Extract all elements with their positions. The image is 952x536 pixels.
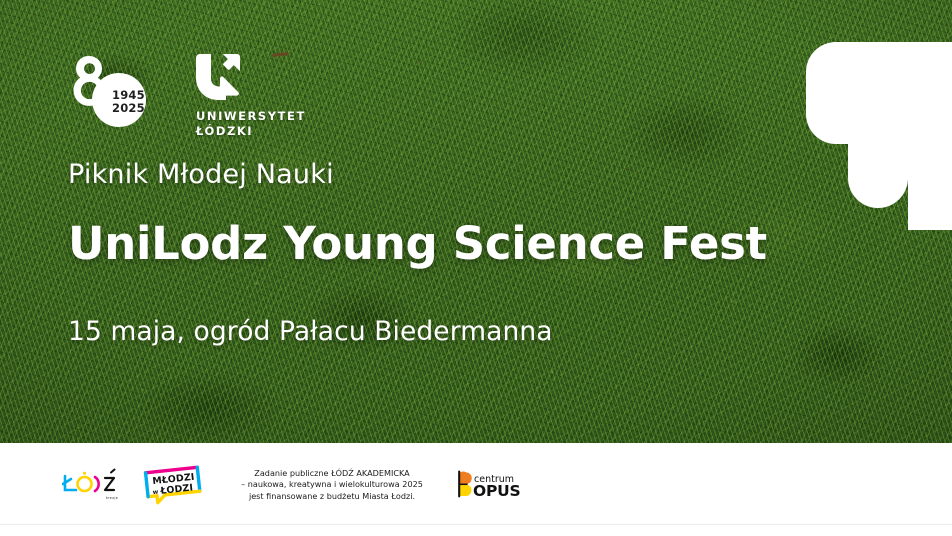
funding-note: Zadanie publiczne ŁÓDŹ AKADEMICKA – nauk… <box>232 468 432 502</box>
event-title: UniLodz Young Science Fest <box>68 220 828 269</box>
university-name-line1: UNIWERSYTET <box>196 109 306 124</box>
lodz-kreuje-logo-icon: kreuje <box>62 467 120 501</box>
brand-logo-row: 1945 2025 UNIWERSYTET ŁÓDZKI <box>66 52 306 139</box>
footer-hairline <box>0 524 952 525</box>
opus-logo-line2: OPUS <box>473 482 521 499</box>
svg-text:ŁODZI: ŁODZI <box>159 482 194 496</box>
university-name-line2: ŁÓDZKI <box>196 124 306 139</box>
mlodzi-w-lodzi-logo-icon: MŁODZI w ŁODZI <box>142 465 204 505</box>
anniversary-year-to: 2025 <box>112 101 145 115</box>
university-logo: UNIWERSYTET ŁÓDZKI <box>196 52 306 139</box>
funding-note-line2: – naukowa, kreatywna i wielokulturowa 20… <box>232 479 432 490</box>
event-subtitle: 15 maja, ogród Pałacu Biedermanna <box>68 317 828 346</box>
ul-arrow-icon <box>196 54 240 100</box>
funding-note-line3: jest finansowane z budżetu Miasta Łodzi. <box>232 491 432 502</box>
event-copy-block: Piknik Młodej Nauki UniLodz Young Scienc… <box>68 160 828 346</box>
event-kicker: Piknik Młodej Nauki <box>68 160 828 190</box>
centrum-opus-logo-icon: centrum OPUS <box>457 469 539 499</box>
svg-text:kreuje: kreuje <box>106 496 118 500</box>
university-logo-text: UNIWERSYTET ŁÓDZKI <box>196 109 306 139</box>
grass-background: 1945 2025 UNIWERSYTET ŁÓDZKI <box>0 0 952 443</box>
funding-note-line1: Zadanie publiczne ŁÓDŹ AKADEMICKA <box>232 468 432 479</box>
event-poster: 1945 2025 UNIWERSYTET ŁÓDZKI <box>0 0 952 536</box>
anniversary-80-logo: 1945 2025 <box>66 52 150 130</box>
anniversary-year-from: 1945 <box>112 88 145 102</box>
